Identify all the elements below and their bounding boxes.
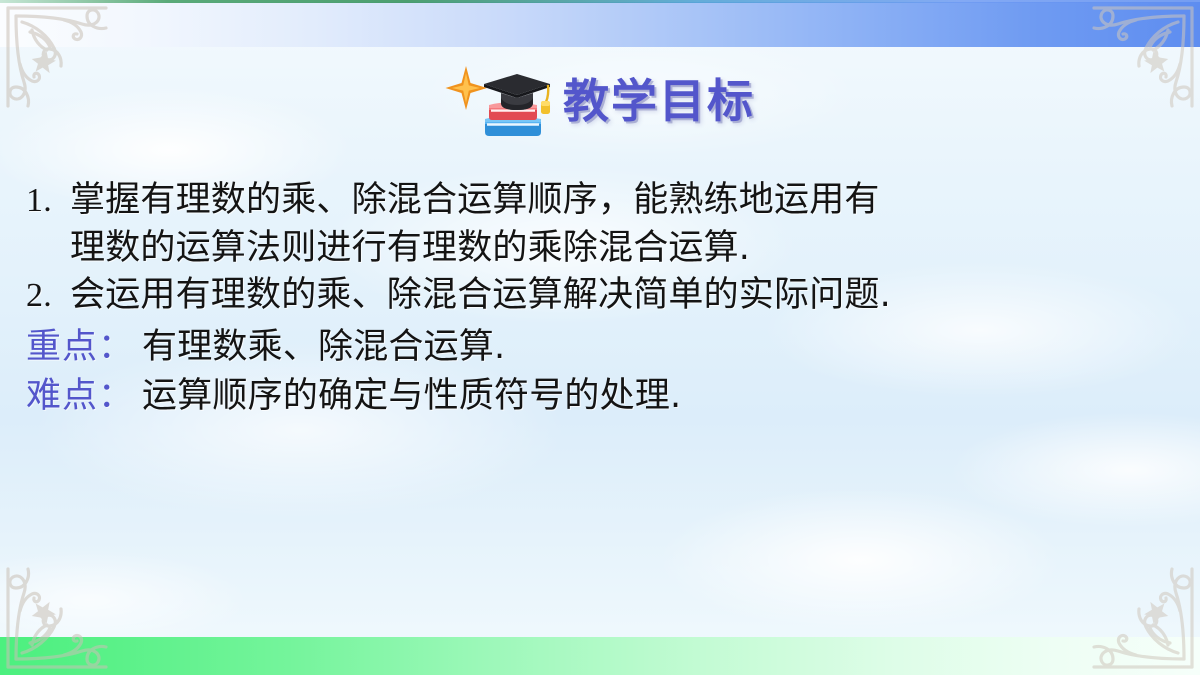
difficult-point-value: 运算顺序的确定与性质符号的处理. [142,375,681,417]
top-band [0,2,1200,47]
objective-number: 1. [26,178,70,223]
objective-item: 2. 会运用有理数的乘、除混合运算解决简单的实际问题. [26,273,1174,318]
slide-title-row: 教学目标 [0,62,1200,140]
top-band-hairline [0,0,1200,3]
difficult-point-row: 难点： 运算顺序的确定与性质符号的处理. [26,375,1174,417]
sparkle-icon [446,66,488,110]
objectives-block: 1. 掌握有理数的乘、除混合运算顺序，能熟练地运用有 理数的运算法则进行有理数的… [26,178,1174,417]
objective-line: 理数的运算法则进行有理数的乘除混合运算. [70,226,1174,271]
key-point-value: 有理数乘、除混合运算. [142,326,505,368]
page-title: 教学目标 [563,78,755,124]
key-point-label: 重点： [26,326,134,368]
objective-text: 掌握有理数的乘、除混合运算顺序，能熟练地运用有 理数的运算法则进行有理数的乘除混… [70,178,1174,271]
objective-item: 1. 掌握有理数的乘、除混合运算顺序，能熟练地运用有 理数的运算法则进行有理数的… [26,178,1174,271]
objective-text: 会运用有理数的乘、除混合运算解决简单的实际问题. [70,273,1174,318]
objective-line: 掌握有理数的乘、除混合运算顺序，能熟练地运用有 [70,178,1174,223]
bottom-band [0,637,1200,675]
key-point-row: 重点： 有理数乘、除混合运算. [26,326,1174,368]
objective-number: 2. [26,273,70,318]
difficult-point-label: 难点： [26,375,134,417]
graduation-cap-books-icon [445,62,553,140]
objective-line: 会运用有理数的乘、除混合运算解决简单的实际问题. [70,273,1174,318]
slide-canvas: 教学目标 1. 掌握有理数的乘、除混合运算顺序，能熟练地运用有 理数的运算法则进… [0,0,1200,675]
